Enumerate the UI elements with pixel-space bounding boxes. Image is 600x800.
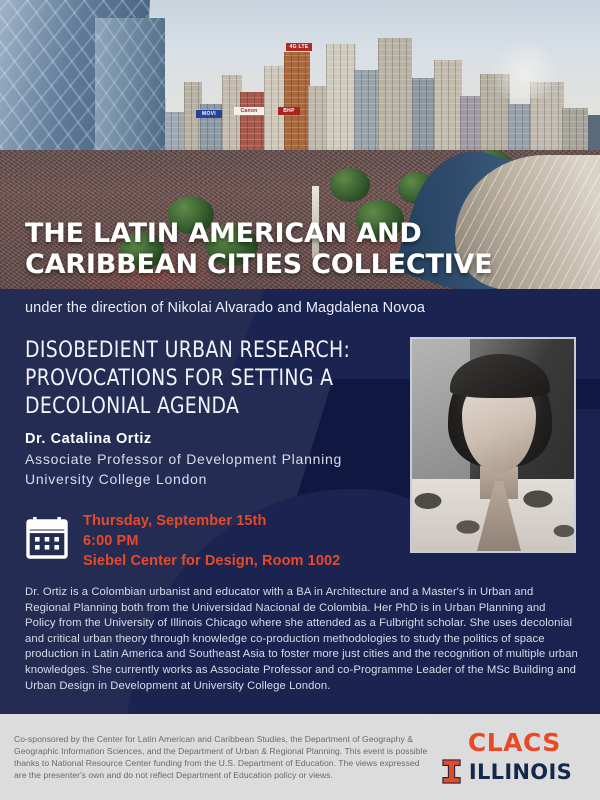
speaker-info: Dr. Catalina Ortiz Associate Professor o… — [25, 429, 405, 489]
hero-photo-banner: 4G LTE MOVI Canon BHP — [0, 0, 600, 290]
title-line-1: THE LATIN AMERICAN AND — [25, 218, 585, 249]
footer-logos: CLACS ILLINOIS — [442, 730, 586, 784]
event-details: Thursday, September 15th 6:00 PM Siebel … — [25, 511, 340, 571]
event-location: Siebel Center for Design, Room 1002 — [83, 551, 340, 571]
sponsor-text: Co-sponsored by the Center for Latin Ame… — [14, 733, 434, 781]
speaker-biography: Dr. Ortiz is a Colombian urbanist and ed… — [25, 585, 578, 694]
event-text-block: Thursday, September 15th 6:00 PM Siebel … — [83, 511, 340, 571]
speaker-name: Dr. Catalina Ortiz — [25, 429, 405, 449]
billboard-sign-1: MOVI — [196, 110, 222, 118]
talk-title-line-2: PROVOCATIONS FOR SETTING A — [25, 364, 369, 392]
poster-footer: Co-sponsored by the Center for Latin Ame… — [0, 714, 600, 800]
billboard-sign-2: Canon — [234, 107, 264, 115]
talk-title-line-3: DECOLONIAL AGENDA — [25, 392, 369, 420]
direction-line: under the direction of Nikolai Alvarado … — [25, 300, 425, 316]
title-line-2: CARIBBEAN CITIES COLLECTIVE — [25, 249, 585, 280]
clacs-logo: CLACS — [468, 730, 561, 756]
speaker-role: Associate Professor of Development Plann… — [25, 449, 405, 469]
poster-main-title: THE LATIN AMERICAN AND CARIBBEAN CITIES … — [25, 218, 585, 280]
calendar-icon — [25, 515, 69, 559]
tree — [330, 168, 370, 202]
illinois-logo-row: ILLINOIS — [442, 759, 572, 784]
talk-title-line-1: DISOBEDIENT URBAN RESEARCH: — [25, 336, 369, 364]
illinois-wordmark: ILLINOIS — [469, 761, 572, 783]
event-date: Thursday, September 15th — [83, 511, 340, 531]
billboard-sign-3: BHP — [278, 107, 300, 115]
talk-title: DISOBEDIENT URBAN RESEARCH: PROVOCATIONS… — [25, 336, 369, 420]
speaker-portrait-photo — [410, 337, 576, 553]
speaker-affiliation: University College London — [25, 469, 405, 489]
event-poster: 4G LTE MOVI Canon BHP — [0, 0, 600, 800]
smoke-plume — [490, 38, 560, 98]
block-i-icon — [442, 759, 461, 784]
event-time: 6:00 PM — [83, 531, 340, 551]
billboard-sign-0: 4G LTE — [286, 43, 312, 51]
